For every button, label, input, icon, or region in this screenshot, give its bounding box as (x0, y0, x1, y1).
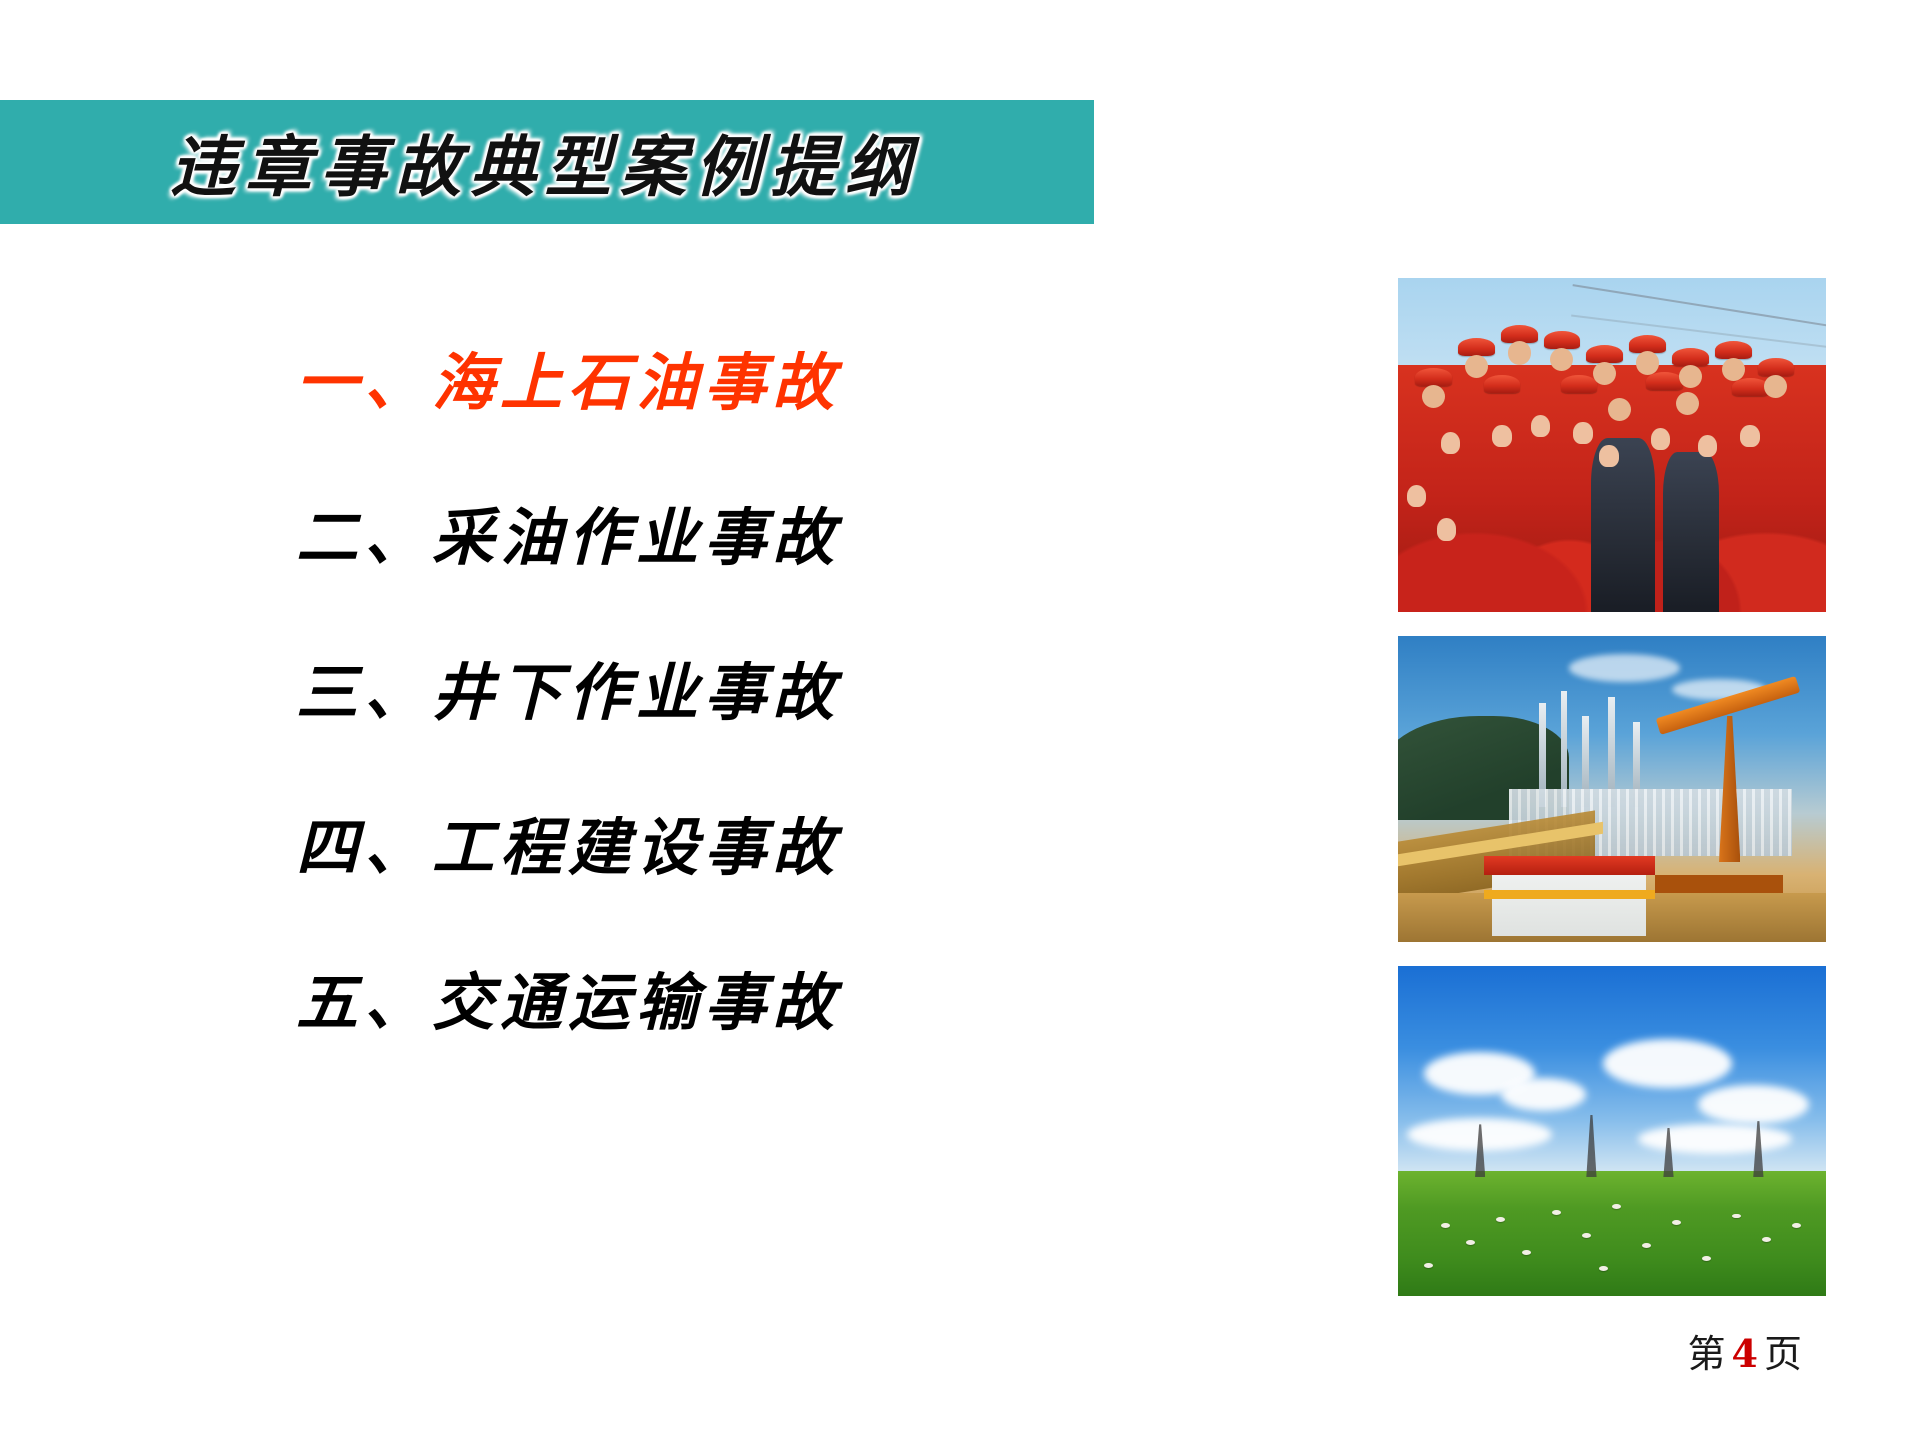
photo1-hard-hat (1484, 375, 1521, 393)
photo3-sheep (1522, 1250, 1531, 1255)
photo1-clapping-hand (1407, 485, 1427, 507)
title-banner: 违章事故典型案例提纲 (0, 100, 1094, 224)
photo1-hard-hat (1501, 325, 1538, 343)
page-number-value: 4 (1732, 1331, 1758, 1376)
photo1-face (1422, 385, 1445, 408)
outline-list: 一、海上石油事故 二、采油作业事故 三、井下作业事故 四、工程建设事故 五、交通… (296, 352, 996, 1034)
photo3-sheep (1496, 1217, 1505, 1222)
page-number-suffix: 页 (1764, 1332, 1802, 1376)
photo1-dark-suit-person (1591, 438, 1655, 612)
photo1-clapping-hand (1698, 435, 1718, 457)
photo1-face (1636, 351, 1659, 374)
outline-item-2[interactable]: 二、采油作业事故 (296, 507, 996, 569)
photo1-hard-hat (1672, 348, 1709, 366)
photo1-clapping-hand (1531, 415, 1551, 437)
photo1-face (1608, 398, 1631, 421)
photo3-sheep (1612, 1204, 1621, 1209)
photo1-clapping-hand (1573, 422, 1593, 444)
outline-item-1[interactable]: 一、海上石油事故 (296, 352, 996, 414)
photo1-face (1508, 341, 1531, 364)
photo3-sheep (1762, 1237, 1771, 1242)
photo1-hard-hat (1561, 375, 1598, 393)
photo1-face (1722, 358, 1745, 381)
photo1-face (1593, 362, 1616, 385)
photo3-cloud (1698, 1085, 1809, 1125)
photo3-sheep (1672, 1220, 1681, 1225)
slide-canvas: 违章事故典型案例提纲 一、海上石油事故 二、采油作业事故 三、井下作业事故 四、… (0, 0, 1920, 1440)
refinery-pumpjack-station-photo (1398, 636, 1826, 942)
photo2-station-canopy (1484, 856, 1655, 874)
outline-item-4[interactable]: 四、工程建设事故 (296, 817, 996, 879)
photo1-hard-hat (1415, 368, 1452, 386)
photo1-hard-hat (1586, 345, 1623, 363)
photo1-clapping-hand (1437, 518, 1457, 540)
photo1-face (1465, 355, 1488, 378)
outline-item-3[interactable]: 三、井下作业事故 (296, 662, 996, 724)
photo-column (1398, 278, 1826, 1296)
photo3-sheep (1424, 1263, 1433, 1268)
photo1-clapping-hand (1441, 432, 1461, 454)
photo1-hard-hat (1544, 331, 1581, 349)
photo3-grassland (1398, 1171, 1826, 1296)
photo1-hard-hat (1715, 341, 1752, 359)
photo1-clapping-hand (1599, 445, 1619, 467)
page-title: 违章事故典型案例提纲 (170, 114, 920, 210)
photo1-clapping-hand (1492, 425, 1512, 447)
page-number-prefix: 第 (1688, 1332, 1726, 1376)
photo1-hard-hat (1646, 372, 1683, 390)
grassland-derricks-sheep-photo (1398, 966, 1826, 1296)
photo1-hard-hat (1629, 335, 1666, 353)
photo2-station-band (1484, 890, 1655, 899)
photo2-cloud (1569, 654, 1680, 682)
page-number: 第4页 (1688, 1323, 1802, 1378)
photo3-cloud (1638, 1124, 1792, 1154)
oil-workers-group-photo (1398, 278, 1826, 612)
photo3-cloud (1603, 1039, 1731, 1089)
photo1-dark-suit-person-2 (1663, 452, 1719, 612)
photo1-face (1676, 392, 1699, 415)
photo2-pumpjack-base (1655, 875, 1783, 893)
photo1-face (1679, 365, 1702, 388)
outline-item-5[interactable]: 五、交通运输事故 (296, 972, 996, 1034)
photo1-clapping-hand (1651, 428, 1671, 450)
photo1-hard-hat (1458, 338, 1495, 356)
photo1-clapping-hand (1740, 425, 1760, 447)
photo1-hard-hat (1758, 358, 1795, 376)
photo1-hard-hat (1732, 378, 1769, 396)
